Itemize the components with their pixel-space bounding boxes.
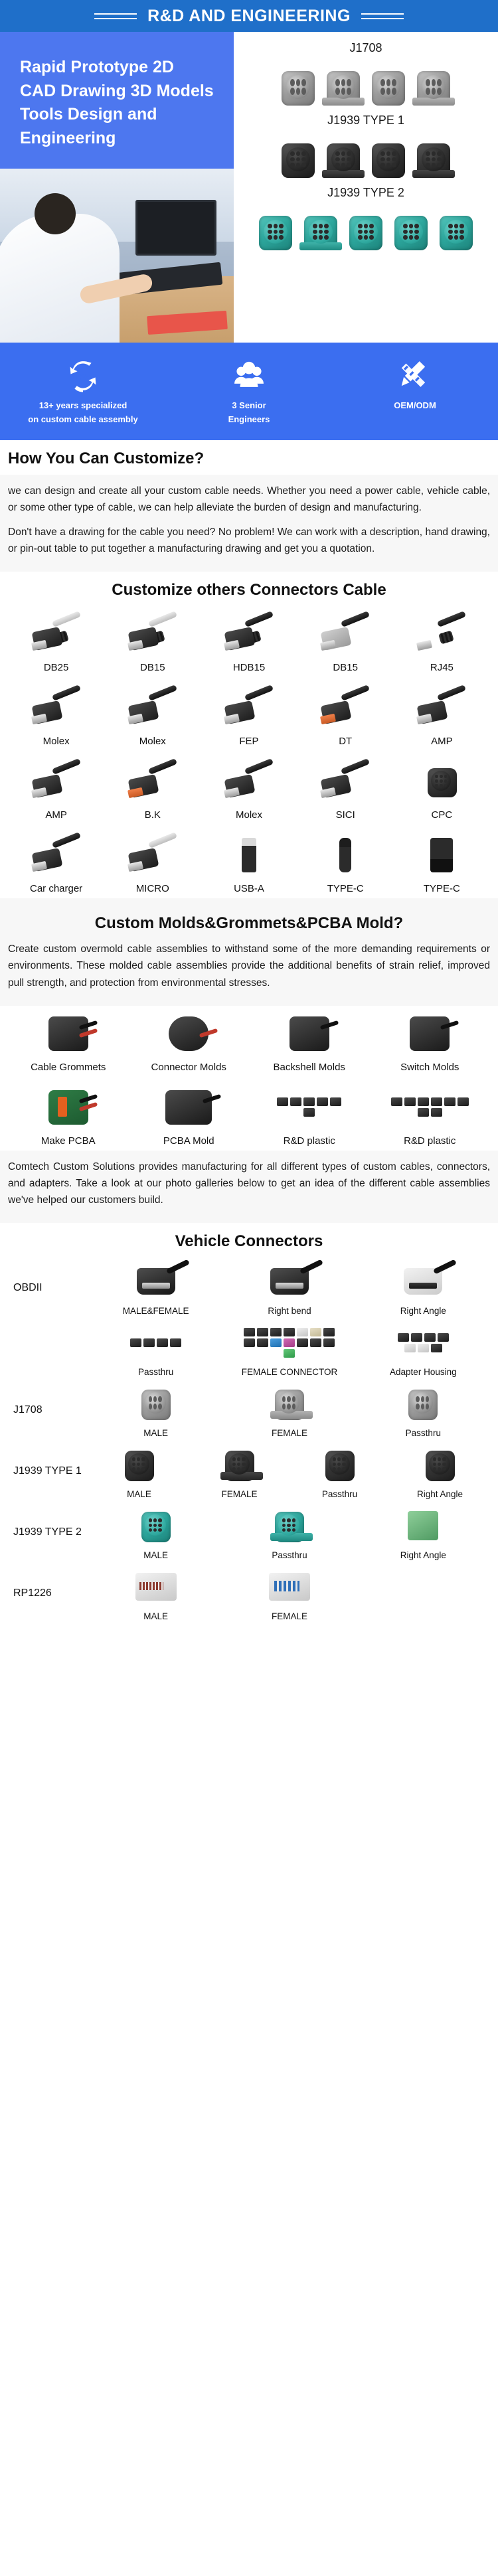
hero-headline: Rapid Prototype 2D CAD Drawing 3D Models… <box>20 56 214 150</box>
fep-connector-icon <box>201 680 297 736</box>
cell-caption: Right Angle <box>357 1303 490 1316</box>
connector-thumb[interactable] <box>370 139 407 181</box>
connector-thumb[interactable] <box>280 67 317 108</box>
product-label: SICI <box>297 809 394 825</box>
product-label: Backshell Molds <box>249 1062 370 1077</box>
row-label: J1708 <box>8 1404 89 1416</box>
product-label: FEP <box>201 736 297 751</box>
dsub-connector-icon <box>201 606 297 662</box>
usb-a-icon <box>201 827 297 883</box>
product-cell[interactable]: USB-A <box>201 827 297 898</box>
connector-row <box>240 131 491 181</box>
molds-title: Custom Molds&Grommets&PCBA Mold? <box>8 914 490 933</box>
connector-thumb[interactable] <box>415 139 452 181</box>
hero-headline-panel: Rapid Prototype 2D CAD Drawing 3D Models… <box>0 32 234 169</box>
j1708-female-icon <box>222 1382 356 1425</box>
product-cell[interactable]: RJ45 <box>394 606 490 677</box>
product-cell[interactable]: TYPE-C <box>297 827 394 898</box>
j1708-passthru-icon <box>357 1382 490 1425</box>
company-stats-strip: 13+ 13+ years specialized on custom cabl… <box>0 343 498 440</box>
table-cell[interactable]: MALE&FEMALE <box>89 1259 222 1316</box>
cell-caption: MALE <box>89 1548 222 1560</box>
switch-mold-icon <box>370 1006 491 1062</box>
product-label: DT <box>297 736 394 751</box>
connectors-cable-title: Customize others Connectors Cable <box>8 581 490 600</box>
rp1226-male-icon <box>89 1565 222 1609</box>
connector-thumb[interactable] <box>325 67 362 108</box>
connector-thumb[interactable] <box>347 212 384 253</box>
table-row: J1939 TYPE 2 MALE Passthru Right Angle <box>8 1502 490 1563</box>
hero-section: Rapid Prototype 2D CAD Drawing 3D Models… <box>0 32 498 343</box>
plastic-clips-icon <box>249 1080 370 1135</box>
j1939t1-passthru-icon <box>290 1443 390 1487</box>
rj45-connector-icon <box>394 606 490 662</box>
product-label: CPC <box>394 809 490 825</box>
table-cell[interactable]: FEMALE <box>189 1443 290 1499</box>
product-cell[interactable]: DB15 <box>104 606 201 677</box>
product-cell[interactable]: DB15 <box>297 606 394 677</box>
obd-male-female-icon <box>89 1259 222 1303</box>
engineer-workstation-photo <box>0 169 234 343</box>
connectors-cable-grid: DB25 DB15 HDB15 DB15 RJ45 Molex Molex FE… <box>8 606 490 898</box>
plastic-parts-icon <box>370 1080 491 1135</box>
hero-left-column: Rapid Prototype 2D CAD Drawing 3D Models… <box>0 32 234 343</box>
molds-grid: Cable Grommets Connector Molds Backshell… <box>8 1006 490 1151</box>
vehicle-connectors-table: OBDII MALE&FEMALE Right bend Right Angle… <box>8 1257 490 1624</box>
obd-right-angle-icon <box>357 1259 490 1303</box>
product-label: PCBA Mold <box>129 1135 250 1151</box>
product-cell[interactable]: R&D plastic <box>249 1080 370 1151</box>
comtech-section: Comtech Custom Solutions provides manufa… <box>0 1151 498 1223</box>
table-cell-empty <box>357 1565 490 1621</box>
backshell-mold-icon <box>249 1006 370 1062</box>
product-cell[interactable]: DB25 <box>8 606 104 677</box>
stat-oem-text: OEM/ODM <box>332 398 498 412</box>
j1939t1-male-icon <box>89 1443 189 1487</box>
table-cell[interactable]: FEMALE <box>222 1382 356 1438</box>
product-label: B.K <box>104 809 201 825</box>
row-label: OBDII <box>8 1282 89 1294</box>
scsi-connector-icon <box>297 754 394 809</box>
dsub-connector-icon <box>8 606 104 662</box>
table-cell[interactable]: Passthru <box>222 1504 356 1560</box>
cell-caption: MALE <box>89 1609 222 1621</box>
product-cell[interactable]: Make PCBA <box>8 1080 129 1151</box>
table-cell[interactable]: FEMALE CONNECTOR <box>222 1321 356 1377</box>
cell-caption: FEMALE <box>222 1425 356 1438</box>
type-c-icon <box>297 827 394 883</box>
connector-thumb[interactable] <box>438 212 475 253</box>
connector-thumb[interactable] <box>302 212 339 253</box>
table-cell[interactable]: MALE <box>89 1443 189 1499</box>
cell-caption: Passthru <box>290 1487 390 1499</box>
product-label: R&D plastic <box>249 1135 370 1151</box>
connector-thumb[interactable] <box>415 67 452 108</box>
connector-row <box>240 204 491 253</box>
j1708-male-icon <box>89 1382 222 1425</box>
table-cell[interactable]: MALE <box>89 1382 222 1438</box>
product-label: Car charger <box>8 883 104 898</box>
cell-caption: FEMALE <box>222 1609 356 1621</box>
svg-text:13+: 13+ <box>74 372 92 383</box>
amp-connector-icon <box>8 754 104 809</box>
connector-group-title: J1708 <box>240 41 491 55</box>
customize-paragraph-2: Don't have a drawing for the cable you n… <box>8 524 490 557</box>
product-label: DB15 <box>104 662 201 677</box>
product-cell[interactable]: PCBA Mold <box>129 1080 250 1151</box>
connector-group-title: J1939 TYPE 1 <box>240 114 491 127</box>
stat-oem-line1: OEM/ODM <box>332 398 498 412</box>
product-cell[interactable]: CPC <box>394 754 490 825</box>
cell-caption: Passthru <box>222 1548 356 1560</box>
row-label: RP1226 <box>8 1587 89 1599</box>
cell-caption: FEMALE CONNECTOR <box>222 1364 356 1377</box>
customize-title: How You Can Customize? <box>8 449 490 468</box>
product-label: USB-A <box>201 883 297 898</box>
product-cell[interactable]: FEP <box>201 680 297 751</box>
table-cell[interactable]: MALE <box>89 1565 222 1621</box>
product-label: TYPE-C <box>394 883 490 898</box>
person-head <box>35 193 76 234</box>
connector-group-j1939-type-1: J1939 TYPE 1 <box>240 110 491 181</box>
customize-section: How You Can Customize? <box>0 449 498 468</box>
dt-connector-icon <box>297 680 394 736</box>
table-row: Passthru FEMALE CONNECTOR Adapter Housin… <box>8 1319 490 1380</box>
product-cell[interactable]: HDB15 <box>201 606 297 677</box>
row-label: J1939 TYPE 2 <box>8 1526 89 1538</box>
molex-connector-icon <box>104 680 201 736</box>
table-cell[interactable]: Passthru <box>357 1382 490 1438</box>
molex-connector-icon <box>201 754 297 809</box>
stat-engineers-text: 3 Senior Engineers <box>166 398 332 427</box>
product-cell[interactable]: Connector Molds <box>129 1006 250 1077</box>
stat-engineers-line1: 3 Senior <box>166 398 332 412</box>
cell-caption: Passthru <box>89 1364 222 1377</box>
dsub-hood-icon <box>297 606 394 662</box>
connector-group-j1939-type-2: J1939 TYPE 2 <box>240 182 491 253</box>
obd-passthru-set-icon <box>89 1321 222 1364</box>
table-cell[interactable]: Right Angle <box>357 1259 490 1316</box>
product-label: AMP <box>394 736 490 751</box>
stat-oem-odm: OEM/ODM <box>332 357 498 427</box>
j1939t2-male-icon <box>89 1504 222 1548</box>
table-row: RP1226 MALE FEMALE <box>8 1563 490 1624</box>
product-cell[interactable]: Cable Grommets <box>8 1006 129 1077</box>
product-cell[interactable]: Molex <box>201 754 297 825</box>
cell-caption: Right bend <box>222 1303 356 1316</box>
product-cell[interactable]: Backshell Molds <box>249 1006 370 1077</box>
table-cell[interactable]: Adapter Housing <box>357 1321 490 1377</box>
connector-thumb[interactable] <box>370 67 407 108</box>
product-label: TYPE-C <box>297 883 394 898</box>
connector-group-title: J1939 TYPE 2 <box>240 186 491 200</box>
product-cell[interactable]: DT <box>297 680 394 751</box>
micro-usb-icon <box>104 827 201 883</box>
pcba-board-icon <box>8 1080 129 1135</box>
product-label: Connector Molds <box>129 1062 250 1077</box>
stat-years: 13+ 13+ years specialized on custom cabl… <box>0 357 166 427</box>
cell-caption: FEMALE <box>189 1487 290 1499</box>
cell-caption: Right Angle <box>357 1548 490 1560</box>
j1939t2-passthru-icon <box>222 1504 356 1548</box>
bk-connector-icon <box>104 754 201 809</box>
molds-grid-section: Cable Grommets Connector Molds Backshell… <box>0 1006 498 1151</box>
banner-title: R&D AND ENGINEERING <box>147 7 351 26</box>
row-label: J1939 TYPE 1 <box>8 1465 89 1477</box>
j1939t1-right-angle-icon <box>390 1443 490 1487</box>
cell-caption: Right Angle <box>390 1487 490 1499</box>
connector-thumb[interactable] <box>325 139 362 181</box>
table-cell[interactable]: Passthru <box>290 1443 390 1499</box>
table-cell[interactable]: Passthru <box>89 1321 222 1377</box>
product-cell[interactable]: AMP <box>8 754 104 825</box>
stat-engineers: 3 Senior Engineers <box>166 357 332 427</box>
connector-thumb[interactable] <box>392 212 430 253</box>
cell-caption: MALE <box>89 1487 189 1499</box>
product-cell[interactable]: SICI <box>297 754 394 825</box>
banner-rule-right <box>361 13 404 19</box>
product-label: AMP <box>8 809 104 825</box>
table-cell[interactable]: FEMALE <box>222 1565 356 1621</box>
cable-grommet-icon <box>8 1006 129 1062</box>
amp-connector-icon <box>394 680 490 736</box>
product-label: Molex <box>201 809 297 825</box>
monitor-icon <box>135 200 216 256</box>
product-label: Molex <box>8 736 104 751</box>
table-cell[interactable]: MALE <box>89 1504 222 1560</box>
stat-engineers-line2: Engineers <box>166 412 332 426</box>
stat-years-line2: on custom cable assembly <box>0 412 166 426</box>
table-row: J1939 TYPE 1 MALE FEMALE Passthru Right … <box>8 1441 490 1502</box>
j1939t1-female-icon <box>189 1443 290 1487</box>
molds-paragraph: Create custom overmold cable assemblies … <box>8 941 490 991</box>
product-label: Molex <box>104 736 201 751</box>
product-cell[interactable]: Switch Molds <box>370 1006 491 1077</box>
molex-connector-icon <box>8 680 104 736</box>
years-cycle-icon: 13+ <box>0 357 166 394</box>
product-cell[interactable]: Molex <box>8 680 104 751</box>
vehicle-connectors-title: Vehicle Connectors <box>8 1232 490 1251</box>
product-label: DB25 <box>8 662 104 677</box>
molds-section: Custom Molds&Grommets&PCBA Mold? Create … <box>0 898 498 1005</box>
table-cell[interactable]: Right Angle <box>357 1504 490 1560</box>
table-cell[interactable]: Right Angle <box>390 1443 490 1499</box>
connectors-cable-section: Customize others Connectors Cable DB25 D… <box>0 581 498 898</box>
product-cell[interactable]: Car charger <box>8 827 104 898</box>
j1939t2-right-angle-icon <box>357 1504 490 1548</box>
stat-years-line1: 13+ years specialized <box>0 398 166 412</box>
product-label: MICRO <box>104 883 201 898</box>
cell-caption: MALE&FEMALE <box>89 1303 222 1316</box>
table-row: J1708 MALE FEMALE Passthru <box>8 1380 490 1441</box>
cell-caption: Adapter Housing <box>357 1364 490 1377</box>
connector-mold-icon <box>129 1006 250 1062</box>
cpc-circular-connector-icon <box>394 754 490 809</box>
table-row: OBDII MALE&FEMALE Right bend Right Angle <box>8 1257 490 1319</box>
obd-right-bend-icon <box>222 1259 356 1303</box>
hero-connector-showcase: J1708 J1939 TYPE 1 J1939 TYPE 2 <box>234 32 498 343</box>
product-cell[interactable]: R&D plastic <box>370 1080 491 1151</box>
cell-caption: Passthru <box>357 1425 490 1438</box>
product-cell[interactable]: AMP <box>394 680 490 751</box>
product-cell[interactable]: Molex <box>104 680 201 751</box>
product-label: Switch Molds <box>370 1062 491 1077</box>
customize-paragraphs: we can design and create all your custom… <box>0 475 498 572</box>
type-c-screwlock-icon <box>394 827 490 883</box>
female-connector-set-icon <box>222 1321 356 1364</box>
product-label: HDB15 <box>201 662 297 677</box>
banner-rule-left <box>94 13 137 19</box>
connector-thumb[interactable] <box>280 139 317 181</box>
product-label: RJ45 <box>394 662 490 677</box>
connector-row <box>240 59 491 108</box>
table-cell[interactable]: Right bend <box>222 1259 356 1316</box>
product-label: R&D plastic <box>370 1135 491 1151</box>
car-charger-icon <box>8 827 104 883</box>
product-label: Cable Grommets <box>8 1062 129 1077</box>
stat-years-text: 13+ years specialized on custom cable as… <box>0 398 166 427</box>
rp1226-female-icon <box>222 1565 356 1609</box>
vehicle-connectors-section: Vehicle Connectors OBDII MALE&FEMALE Rig… <box>0 1232 498 1624</box>
cell-caption: MALE <box>89 1425 222 1438</box>
connector-thumb[interactable] <box>257 212 294 253</box>
dsub-connector-icon <box>104 606 201 662</box>
connector-group-j1708: J1708 <box>240 37 491 108</box>
rd-engineering-banner: R&D AND ENGINEERING <box>0 0 498 32</box>
product-cell[interactable]: B.K <box>104 754 201 825</box>
pencil-ruler-icon <box>332 357 498 394</box>
product-cell[interactable]: TYPE-C <box>394 827 490 898</box>
product-cell[interactable]: MICRO <box>104 827 201 898</box>
customize-paragraph-1: we can design and create all your custom… <box>8 483 490 516</box>
engineers-group-icon <box>166 357 332 394</box>
product-label: DB15 <box>297 662 394 677</box>
product-label: Make PCBA <box>8 1135 129 1151</box>
comtech-paragraph: Comtech Custom Solutions provides manufa… <box>8 1159 490 1208</box>
pcba-mold-icon <box>129 1080 250 1135</box>
adapter-housing-set-icon <box>357 1321 490 1364</box>
